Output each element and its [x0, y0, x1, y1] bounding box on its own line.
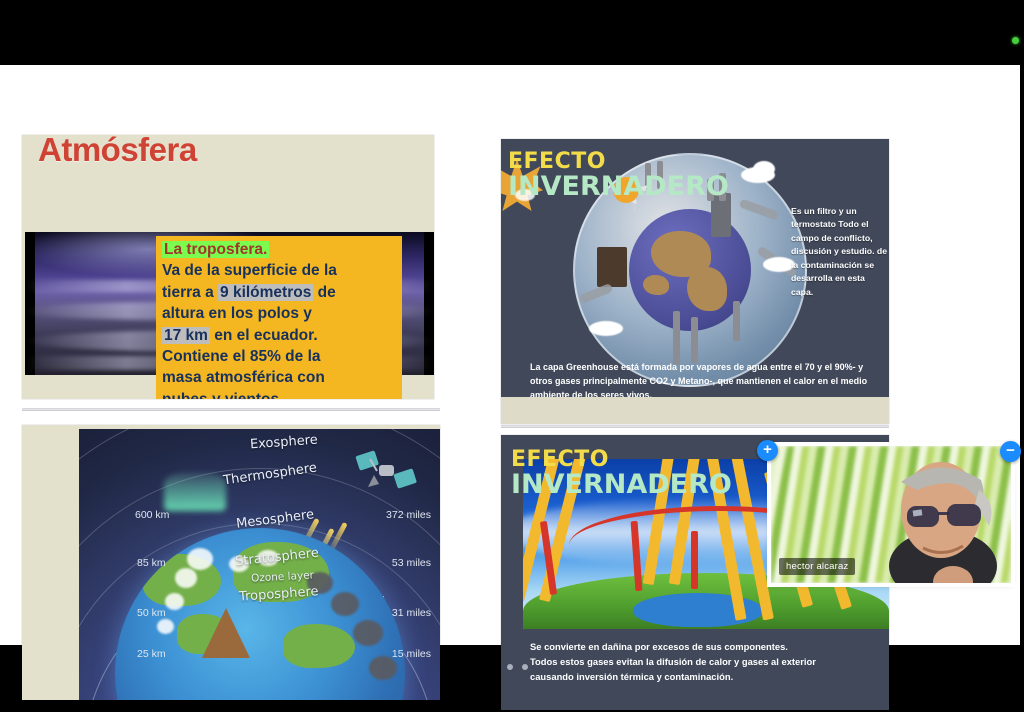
satellite-icon	[352, 447, 418, 497]
footer-line: causando inversión térmica y contaminaci…	[530, 669, 870, 684]
callout-line: 17 km en el ecuador.	[162, 325, 396, 346]
collapse-video-button[interactable]: −	[1000, 441, 1021, 462]
cloud-icon	[753, 161, 775, 177]
footer-line: Se convierte en dañina por excesos de su…	[530, 639, 870, 654]
text-run: tierra a	[162, 284, 218, 301]
text-run: nubes y vientos	[162, 391, 279, 399]
text-run: masa atmosférica con	[162, 369, 325, 386]
landmass	[283, 624, 355, 668]
altitude-85km: 85 km	[137, 557, 166, 569]
smoke-puff	[175, 568, 197, 588]
altitude-372miles: 372 miles	[386, 509, 431, 521]
slide-canvas: EFECTO INVERNADERO Es un filtro y un ter…	[501, 139, 889, 397]
text-run: en el ecuador.	[210, 327, 318, 344]
landmass	[687, 267, 727, 311]
participant-name-label: hector alcaraz	[779, 558, 855, 575]
footer-description: Se convierte en dañina por excesos de su…	[530, 639, 870, 685]
side-description: Es un filtro y un termostato Todo el cam…	[791, 205, 889, 299]
pollution-puff	[331, 592, 359, 616]
slide-bottom-margin	[501, 397, 889, 424]
slide-efecto-invernadero-globo[interactable]: EFECTO INVERNADERO Es un filtro y un ter…	[501, 139, 889, 424]
participant-video-tile[interactable]: hector alcaraz	[771, 446, 1011, 583]
slide-atmosfera[interactable]: Atmósfera La troposfera. Va de la superf…	[22, 135, 434, 399]
text-run: Va de la superficie de la	[162, 262, 337, 279]
recording-indicator-dot	[1012, 37, 1019, 44]
participant-avatar	[861, 450, 1011, 583]
slide-atmosphere-layers[interactable]: Exosphere Thermosphere Mesosphere Strato…	[22, 425, 440, 700]
smokestack	[691, 317, 698, 363]
smoke-puff	[165, 593, 184, 610]
bullet-dot	[522, 664, 528, 670]
altitude-31miles: 31 miles	[392, 607, 431, 619]
altitude-25km: 25 km	[137, 648, 166, 660]
factory-building	[597, 247, 627, 287]
text-run: altura en los polos y	[162, 305, 312, 322]
callout-line: tierra a 9 kilómetros de	[162, 282, 396, 303]
callout-line: Contiene el 85% de la	[162, 346, 396, 367]
smokestack	[673, 311, 680, 365]
volcano-icon	[202, 608, 250, 658]
smoke-puff	[157, 619, 174, 634]
atmosphere-layers-diagram: Exosphere Thermosphere Mesosphere Strato…	[79, 429, 440, 700]
text-run-highlight: 9 kilómetros	[218, 284, 313, 301]
bullet-dot	[507, 664, 513, 670]
callout-line: Va de la superficie de la	[162, 260, 396, 281]
footer-line: Todos estos gases evitan la difusión de …	[530, 654, 870, 669]
text-run: de	[313, 284, 335, 301]
troposphere-callout-box: La troposfera. Va de la superficie de la…	[156, 236, 402, 399]
slide-title: Atmósfera	[38, 135, 197, 169]
callout-line: nubes y vientos	[162, 389, 396, 399]
altitude-600km: 600 km	[135, 509, 169, 521]
callout-line: altura en los polos y	[162, 303, 396, 324]
callout-heading: La troposfera.	[162, 239, 396, 260]
altitude-53miles: 53 miles	[392, 557, 431, 569]
smokestack	[733, 301, 740, 341]
screen: Atmósfera La troposfera. Va de la superf…	[0, 0, 1024, 712]
altitude-15miles: 15 miles	[392, 648, 431, 660]
altitude-50km: 50 km	[137, 607, 166, 619]
callout-line: masa atmosférica con	[162, 367, 396, 388]
slide-separator	[22, 408, 440, 411]
photo-right-vignette	[424, 232, 434, 375]
slide-title-line2: INVERNADERO	[508, 171, 729, 202]
callout-heading-text: La troposfera.	[162, 241, 269, 258]
aurora-icon	[164, 473, 226, 511]
expand-video-button[interactable]: +	[757, 440, 778, 461]
photo-left-vignette	[25, 232, 35, 375]
text-run: Contiene el 85% de la	[162, 348, 321, 365]
text-run-highlight: 17 km	[162, 327, 210, 344]
slide-separator	[501, 425, 889, 428]
slide-title-line2: INVERNADERO	[511, 469, 732, 500]
landmass	[643, 275, 669, 295]
smoke-puff	[187, 548, 213, 570]
pollution-puff	[353, 620, 383, 646]
cloud-icon	[589, 321, 623, 336]
